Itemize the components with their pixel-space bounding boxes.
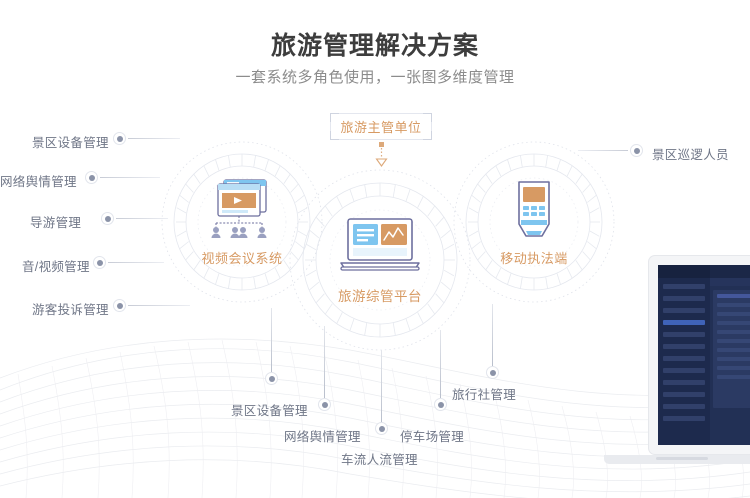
left-label-4: 游客投诉管理	[32, 299, 109, 318]
tree-row[interactable]	[717, 348, 750, 352]
bottom-dot-4	[486, 366, 499, 379]
bottom-drop-line-2	[381, 350, 382, 422]
dashboard-main	[710, 265, 750, 445]
dashboard-ui	[658, 265, 750, 445]
page-title: 旅游管理解决方案	[0, 26, 750, 62]
node-tourism-platform[interactable]: 旅游综管平台	[288, 168, 472, 352]
sidebar-nav-item[interactable]	[663, 284, 705, 289]
dashboard-columns	[710, 290, 750, 408]
left-label-3: 音/视频管理	[22, 256, 90, 275]
sidebar-nav-item[interactable]	[663, 368, 705, 373]
box-corner-bottom-right	[423, 131, 432, 140]
tree-row[interactable]	[717, 303, 750, 307]
bottom-dot-0	[265, 372, 278, 385]
left-leader-line-1	[100, 177, 160, 178]
bottom-label-1: 网络舆情管理	[284, 426, 361, 445]
bottom-dot-2	[375, 422, 388, 435]
left-label-2: 导游管理	[30, 212, 81, 231]
left-label-0: 景区设备管理	[32, 132, 109, 151]
tree-row[interactable]	[717, 330, 750, 334]
bottom-label-4: 旅行社管理	[452, 384, 516, 403]
sidebar-nav-item[interactable]	[663, 416, 705, 421]
box-edge-top	[339, 113, 423, 114]
authority-label: 旅游主管单位	[340, 117, 421, 136]
tree-row[interactable]	[717, 357, 750, 361]
left-leader-line-3	[108, 262, 164, 263]
solution-diagram-page: 旅游管理解决方案 一套系统多角色使用，一张图多维度管理 旅游主管单位	[0, 0, 750, 498]
bottom-drop-line-4	[492, 304, 493, 366]
right-label-0: 景区巡逻人员	[652, 144, 729, 163]
box-edge-left	[330, 122, 331, 131]
tree-row[interactable]	[717, 375, 750, 379]
left-leader-line-0	[128, 138, 180, 139]
bottom-label-0: 景区设备管理	[231, 400, 308, 419]
left-dot-3	[93, 256, 106, 269]
bottom-label-2: 车流人流管理	[341, 449, 418, 468]
box-corner-bottom-left	[330, 131, 339, 140]
dashboard-logo	[658, 265, 710, 278]
video-window-icon	[202, 175, 282, 245]
sidebar-nav-item[interactable]	[663, 392, 705, 397]
page-subtitle: 一套系统多角色使用，一张图多维度管理	[0, 66, 750, 87]
left-dot-1	[85, 171, 98, 184]
node-mobile-enforcement[interactable]: 移动执法端	[452, 140, 616, 304]
left-dot-0	[113, 132, 126, 145]
sidebar-nav-item[interactable]	[663, 332, 705, 337]
left-label-1: 网络舆情管理	[0, 171, 77, 190]
bottom-label-3: 停车场管理	[400, 426, 464, 445]
sidebar-nav-item[interactable]	[663, 296, 705, 301]
bottom-drop-line-3	[440, 330, 441, 398]
laptop-dashboard-icon	[335, 216, 425, 278]
box-corner-top-left	[330, 113, 339, 122]
bottom-dot-3	[434, 398, 447, 411]
dashboard-tree-panel	[713, 290, 750, 408]
sidebar-nav-item[interactable]	[663, 380, 705, 385]
tree-row[interactable]	[717, 294, 750, 298]
tree-row[interactable]	[717, 366, 750, 370]
sidebar-nav-item[interactable]	[663, 344, 705, 349]
right-dot-0	[630, 144, 643, 157]
bottom-drop-line-1	[324, 326, 325, 398]
right-leader-line-0	[578, 150, 628, 151]
left-leader-line-2	[116, 218, 168, 219]
dashboard-toolbar	[710, 278, 750, 286]
node-label-mobile-enforcement: 移动执法端	[452, 248, 616, 267]
laptop-mockup	[648, 255, 750, 485]
dashboard-sidebar	[658, 265, 710, 445]
laptop-base	[604, 455, 750, 464]
sidebar-nav-item-selected[interactable]	[663, 320, 705, 325]
authority-down-arrow-icon	[368, 142, 396, 170]
box-edge-bottom	[339, 139, 423, 140]
box-corner-top-right	[423, 113, 432, 122]
left-dot-4	[113, 299, 126, 312]
background-wave-mesh	[0, 328, 750, 498]
handheld-device-icon	[509, 178, 559, 244]
tree-row[interactable]	[717, 321, 750, 325]
dashboard-topbar	[710, 265, 750, 278]
tree-row[interactable]	[717, 339, 750, 343]
box-edge-right	[431, 122, 432, 131]
sidebar-nav-item[interactable]	[663, 308, 705, 313]
authority-box: 旅游主管单位	[330, 113, 432, 140]
left-leader-line-4	[128, 305, 190, 306]
bottom-dot-1	[318, 398, 331, 411]
node-label-tourism-platform: 旅游综管平台	[288, 285, 472, 305]
sidebar-nav-item[interactable]	[663, 356, 705, 361]
bottom-drop-line-0	[271, 308, 272, 372]
tree-row[interactable]	[717, 312, 750, 316]
sidebar-nav-item[interactable]	[663, 404, 705, 409]
laptop-screen	[648, 255, 750, 455]
left-dot-2	[101, 212, 114, 225]
